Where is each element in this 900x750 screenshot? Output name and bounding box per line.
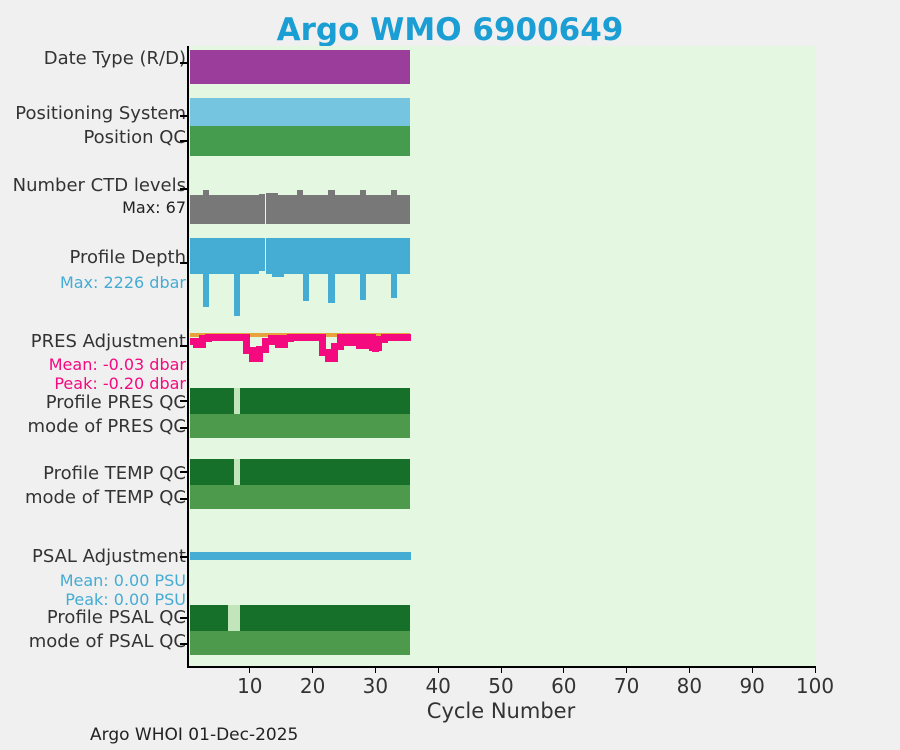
x-tick-label-50: 50	[471, 674, 531, 698]
row-label-mode-pres-qc: mode of PRES QC	[28, 418, 186, 437]
y-tick-10	[180, 556, 188, 558]
row-label-profile-depth-max: Max: 2226 dbar	[60, 275, 186, 292]
x-tick-20	[312, 666, 313, 673]
y-tick-11	[180, 617, 188, 619]
mode-temp-qc-band-run	[190, 485, 410, 509]
x-tick-10	[249, 666, 250, 673]
y-tick-9	[180, 498, 188, 500]
page-title: Argo WMO 6900649	[0, 12, 900, 48]
row-label-positioning: Positioning System	[15, 105, 186, 124]
footer-credit: Argo WHOI 01-Dec-2025	[90, 725, 298, 745]
mode-psal-qc-band-run	[190, 631, 410, 655]
y-tick-2	[180, 140, 188, 142]
row-label-profile-psal-qc: Profile PSAL QC	[47, 609, 186, 628]
row-label-pres-adjustment: PRES Adjustment	[31, 333, 186, 352]
profile-depth-bar	[404, 238, 410, 274]
y-tick-12	[180, 643, 188, 645]
row-label-ctd-levels-max: Max: 67	[122, 200, 186, 217]
x-tick-label-90: 90	[722, 674, 782, 698]
x-tick-label-10: 10	[220, 674, 280, 698]
pres-adjust-point	[404, 334, 411, 341]
y-tick-1	[180, 115, 188, 117]
y-tick-6	[180, 400, 188, 402]
row-label-psal-mean: Mean: 0.00 PSU	[60, 573, 186, 590]
row-label-date-type: Date Type (R/D)	[44, 50, 186, 69]
x-tick-50	[501, 666, 502, 673]
y-tick-0	[180, 62, 188, 64]
position-qc-band-run	[190, 126, 410, 156]
row-label-mode-temp-qc: mode of TEMP QC	[25, 489, 186, 508]
ctd-levels-bar	[404, 195, 410, 224]
x-tick-label-80: 80	[659, 674, 719, 698]
row-label-position-qc: Position QC	[83, 129, 186, 148]
x-tick-label-100: 100	[785, 674, 845, 698]
profile-psal-qc-band-run	[190, 605, 228, 631]
mode-pres-qc-band-run	[190, 414, 410, 438]
x-tick-label-60: 60	[534, 674, 594, 698]
row-label-ctd-levels: Number CTD levels	[13, 177, 186, 196]
profile-pres-qc-band-run	[240, 388, 410, 414]
row-label-mode-psal-qc: mode of PSAL QC	[29, 633, 186, 652]
x-tick-70	[626, 666, 627, 673]
x-tick-60	[563, 666, 564, 673]
y-tick-5	[180, 345, 188, 347]
x-tick-40	[438, 666, 439, 673]
y-tick-4	[180, 262, 188, 264]
profile-psal-qc-band-run	[240, 605, 410, 631]
profile-temp-qc-band-run	[190, 459, 234, 485]
row-label-profile-pres-qc: Profile PRES QC	[46, 394, 186, 413]
y-tick-3	[180, 188, 188, 190]
date-type-band-run	[190, 50, 410, 84]
positioning-band-run	[190, 98, 410, 126]
x-tick-label-70: 70	[597, 674, 657, 698]
profile-pres-qc-band-run	[190, 388, 234, 414]
x-tick-label-30: 30	[345, 674, 405, 698]
x-tick-90	[752, 666, 753, 673]
x-tick-80	[689, 666, 690, 673]
x-tick-label-40: 40	[408, 674, 468, 698]
y-tick-7	[180, 427, 188, 429]
profile-temp-qc-band-run	[240, 459, 410, 485]
argo-float-summary-figure: Argo WMO 6900649 102030405060708090100 C…	[0, 0, 900, 750]
row-label-profile-temp-qc: Profile TEMP QC	[43, 465, 186, 484]
row-label-profile-depth: Profile Depth	[69, 249, 186, 268]
x-axis-label: Cycle Number	[187, 699, 815, 723]
row-label-psal-adjustment: PSAL Adjustment	[32, 548, 186, 567]
row-label-pres-peak: Peak: -0.20 dbar	[54, 376, 186, 393]
psal-adjust-point	[404, 552, 411, 560]
row-label-pres-mean: Mean: -0.03 dbar	[49, 357, 186, 374]
x-tick-label-20: 20	[283, 674, 343, 698]
x-tick-100	[815, 666, 816, 673]
y-tick-8	[180, 471, 188, 473]
x-tick-30	[375, 666, 376, 673]
